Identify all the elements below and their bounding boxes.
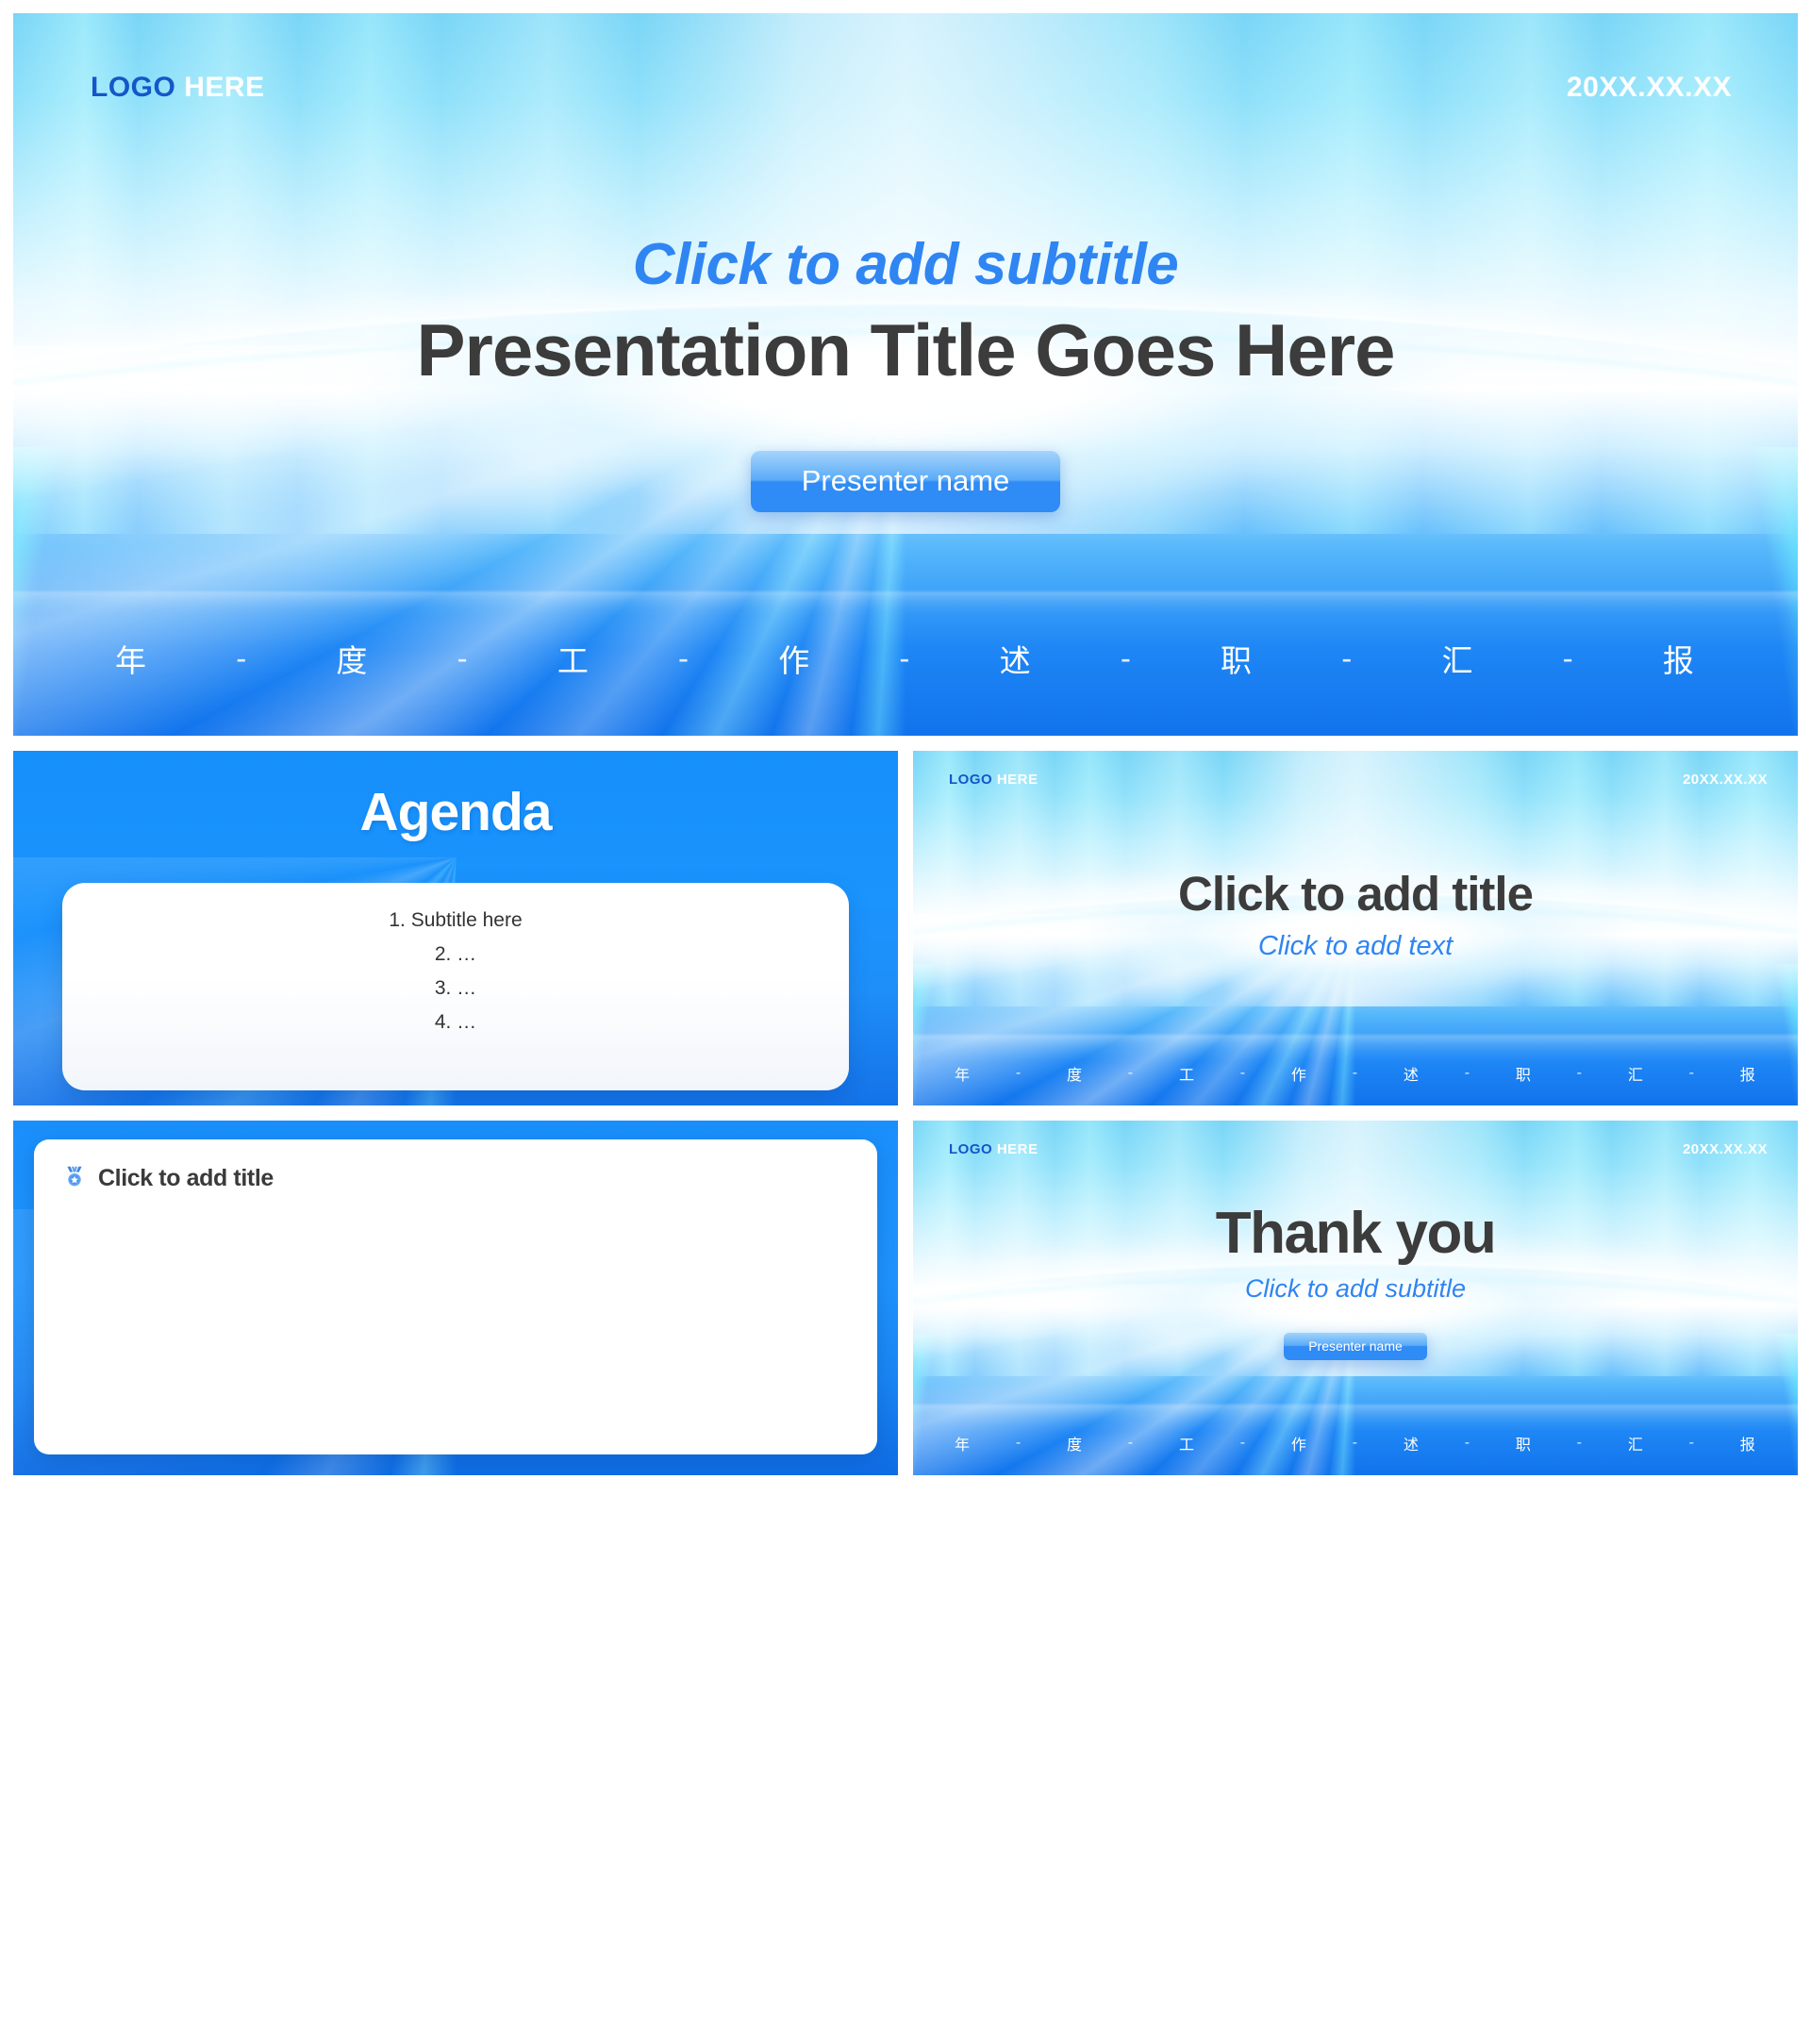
slide-row-3: Click to add title LOGO HERE 20XX.XX.XX …: [13, 1121, 1798, 1475]
logo-primary: LOGO: [949, 772, 992, 788]
footer-char-7: 汇: [1441, 636, 1474, 681]
cover-footer: 年 - 度 - 工 - 作 - 述 - 职 - 汇 - 报: [13, 636, 1798, 681]
date-label: 20XX.XX.XX: [1683, 1141, 1768, 1157]
footer-char-4: 作: [778, 636, 811, 681]
medal-icon: [62, 1164, 87, 1193]
footer-char-2: 度: [336, 636, 369, 681]
footer-char-4: 作: [1291, 1432, 1307, 1454]
content-card[interactable]: Click to add title: [34, 1139, 877, 1454]
footer-dash-7: -: [1689, 1435, 1695, 1452]
date-label: 20XX.XX.XX: [1683, 772, 1768, 788]
section-title[interactable]: Click to add title: [1178, 866, 1533, 922]
footer-dash-2: -: [1128, 1065, 1134, 1082]
content-title[interactable]: Click to add title: [98, 1165, 274, 1192]
footer-dash-4: -: [899, 640, 911, 676]
footer-char-2: 度: [1067, 1062, 1083, 1085]
footer-char-7: 汇: [1628, 1062, 1644, 1085]
logo-primary: LOGO: [949, 1141, 992, 1157]
footer-dash-6: -: [1577, 1435, 1583, 1452]
footer-dash-5: -: [1121, 640, 1133, 676]
footer-dash-5: -: [1465, 1065, 1470, 1082]
slide-agenda[interactable]: Agenda 1. Subtitle here 2. … 3. … 4. …: [13, 751, 898, 1105]
footer-dash-6: -: [1341, 640, 1354, 676]
footer-char-7: 汇: [1628, 1432, 1644, 1454]
logo-secondary: HERE: [997, 772, 1038, 788]
section-footer: 年 - 度 - 工 - 作 - 述 - 职 - 汇 - 报: [913, 1062, 1798, 1085]
footer-dash-2: -: [1128, 1435, 1134, 1452]
slide-cover[interactable]: LOGO HERE 20XX.XX.XX Click to add subtit…: [13, 13, 1798, 736]
thanks-body: Thank you Click to add subtitle Presente…: [913, 1121, 1798, 1475]
logo-primary: LOGO: [91, 72, 175, 103]
agenda-card[interactable]: 1. Subtitle here 2. … 3. … 4. …: [62, 883, 849, 1090]
cover-body: Click to add subtitle Presentation Title…: [13, 13, 1798, 736]
footer-dash-1: -: [1016, 1065, 1022, 1082]
slide-section[interactable]: LOGO HERE 20XX.XX.XX Click to add title …: [913, 751, 1798, 1105]
section-header: LOGO HERE 20XX.XX.XX: [913, 751, 1798, 788]
logo-secondary: HERE: [184, 72, 264, 103]
footer-dash-1: -: [236, 640, 248, 676]
footer-dash-5: -: [1465, 1435, 1470, 1452]
footer-dash-3: -: [678, 640, 690, 676]
footer-char-8: 报: [1740, 1432, 1756, 1454]
slide-row-2: Agenda 1. Subtitle here 2. … 3. … 4. … L…: [13, 751, 1798, 1105]
date-label: 20XX.XX.XX: [1567, 72, 1732, 104]
list-item[interactable]: 4. …: [62, 1009, 849, 1036]
thanks-title[interactable]: Thank you: [1216, 1200, 1496, 1267]
footer-dash-4: -: [1353, 1065, 1358, 1082]
content-card-header: Click to add title: [62, 1164, 849, 1193]
footer-char-1: 年: [115, 636, 148, 681]
footer-char-6: 职: [1516, 1432, 1532, 1454]
slide-thanks[interactable]: LOGO HERE 20XX.XX.XX Thank you Click to …: [913, 1121, 1798, 1475]
cover-subtitle[interactable]: Click to add subtitle: [633, 236, 1179, 294]
footer-char-6: 职: [1516, 1062, 1532, 1085]
logo[interactable]: LOGO HERE: [949, 772, 1038, 788]
agenda-list: 1. Subtitle here 2. … 3. … 4. …: [62, 907, 849, 1037]
logo-secondary: HERE: [997, 1141, 1038, 1157]
footer-char-1: 年: [955, 1062, 971, 1085]
footer-char-1: 年: [955, 1432, 971, 1454]
footer-char-5: 述: [1404, 1062, 1420, 1085]
thanks-footer: 年 - 度 - 工 - 作 - 述 - 职 - 汇 - 报: [913, 1432, 1798, 1454]
section-body: Click to add title Click to add text: [913, 751, 1798, 1105]
footer-char-8: 报: [1663, 636, 1696, 681]
list-item[interactable]: 2. …: [62, 941, 849, 968]
presenter-name-button[interactable]: Presenter name: [1284, 1332, 1427, 1360]
slide-deck: LOGO HERE 20XX.XX.XX Click to add subtit…: [0, 0, 1811, 2044]
footer-char-3: 工: [557, 636, 590, 681]
logo[interactable]: LOGO HERE: [949, 1141, 1038, 1157]
footer-dash-7: -: [1563, 640, 1575, 676]
footer-char-5: 述: [1000, 636, 1033, 681]
footer-char-5: 述: [1404, 1432, 1420, 1454]
footer-char-8: 报: [1740, 1062, 1756, 1085]
footer-char-2: 度: [1067, 1432, 1083, 1454]
agenda-title[interactable]: Agenda: [13, 751, 898, 843]
footer-char-3: 工: [1179, 1432, 1195, 1454]
list-item[interactable]: 3. …: [62, 975, 849, 1002]
logo[interactable]: LOGO HERE: [91, 72, 265, 104]
cover-title[interactable]: Presentation Title Goes Here: [417, 309, 1395, 391]
thanks-subtitle[interactable]: Click to add subtitle: [1245, 1274, 1466, 1304]
thanks-header: LOGO HERE 20XX.XX.XX: [913, 1121, 1798, 1157]
footer-char-4: 作: [1291, 1062, 1307, 1085]
footer-dash-2: -: [457, 640, 470, 676]
footer-dash-7: -: [1689, 1065, 1695, 1082]
section-text[interactable]: Click to add text: [1258, 931, 1453, 962]
footer-dash-6: -: [1577, 1065, 1583, 1082]
presenter-name-button[interactable]: Presenter name: [751, 450, 1061, 512]
footer-dash-3: -: [1240, 1435, 1246, 1452]
footer-dash-4: -: [1353, 1435, 1358, 1452]
list-item[interactable]: 1. Subtitle here: [62, 907, 849, 934]
footer-char-6: 职: [1221, 636, 1254, 681]
footer-dash-3: -: [1240, 1065, 1246, 1082]
footer-char-3: 工: [1179, 1062, 1195, 1085]
footer-dash-1: -: [1016, 1435, 1022, 1452]
slide-content[interactable]: Click to add title: [13, 1121, 898, 1475]
cover-header: LOGO HERE 20XX.XX.XX: [13, 13, 1798, 104]
